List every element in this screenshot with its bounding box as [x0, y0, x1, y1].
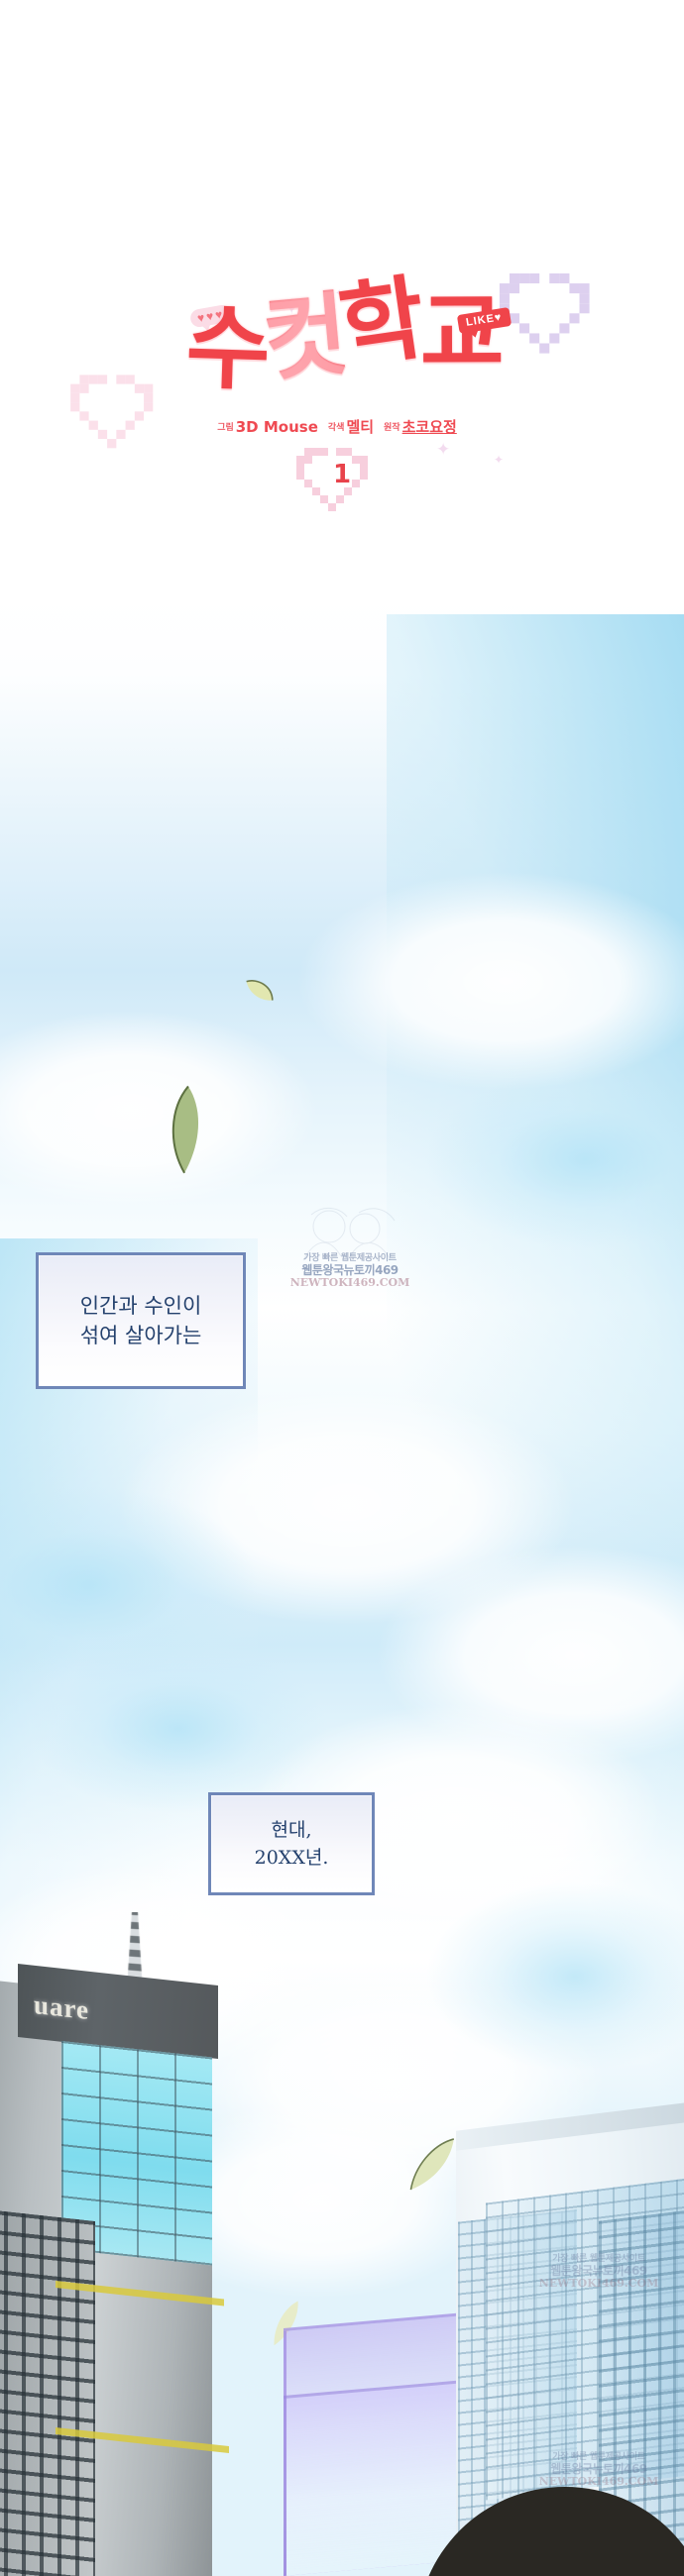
credit-original-name: 초코요정 [402, 418, 457, 436]
episode-number-badge: 1 [0, 448, 684, 517]
watermark-figure [289, 1203, 408, 1277]
narration-text: 현대, 20XX년. [211, 1817, 372, 1872]
webtoon-page: ✦ ✦ ✦ ✦ ✦ ♥♥♥ 수컷학교 LIKE♥ 그림3D Mouse각색멜티원… [0, 0, 684, 2576]
title-logo-text: 수컷학교 [0, 253, 684, 417]
pixel-heart-icon [304, 448, 312, 456]
credits-line: 그림3D Mouse각색멜티원작초코요정 [0, 416, 684, 437]
credit-adapt-name: 멜티 [346, 418, 374, 436]
cityscape: uare [0, 1912, 684, 2576]
building-left-windows [0, 2209, 95, 2576]
credit-art-name: 3D Mouse [236, 418, 318, 436]
narration-box: 인간과 수인이 섞여 살아가는 [36, 1252, 246, 1389]
credit-art-label: 그림 [217, 423, 234, 433]
narration-text: 인간과 수인이 섞여 살아가는 [39, 1291, 243, 1351]
narration-box: 현대, 20XX년. [208, 1792, 375, 1895]
credit-original-label: 원작 [384, 423, 400, 433]
credit-adapt-label: 각색 [328, 423, 345, 433]
watermark-sketch [289, 1203, 408, 1272]
episode-number: 1 [0, 460, 684, 489]
